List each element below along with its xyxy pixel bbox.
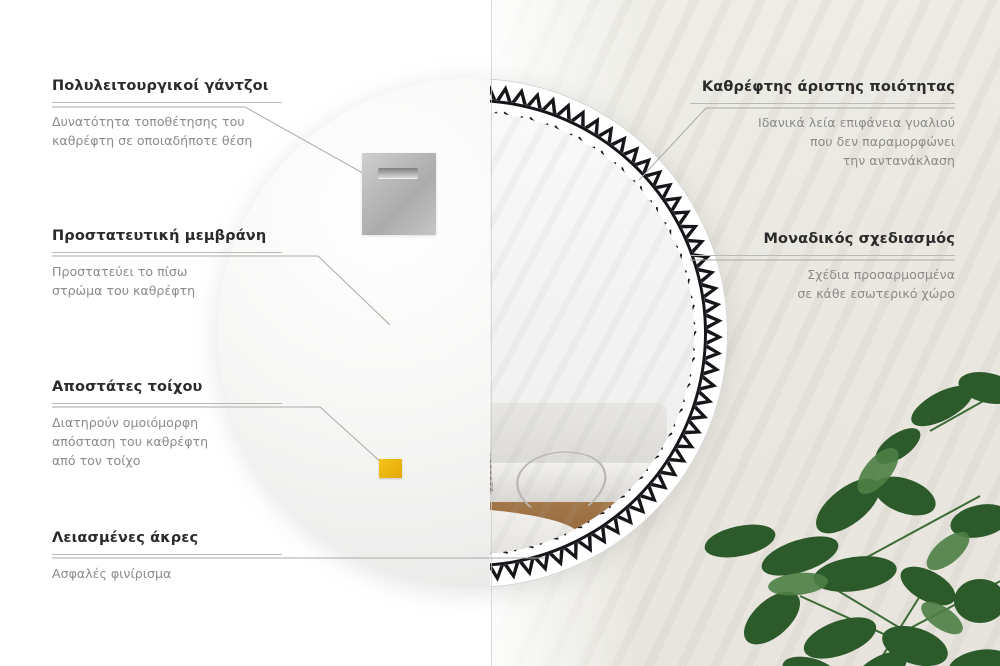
green-foliage-branches (680, 346, 1000, 666)
callout-title: Πολυλειτουργικοί γάντζοι (52, 78, 282, 94)
callout-hooks: Πολυλειτουργικοί γάντζοι Δυνατότητα τοπο… (52, 78, 282, 150)
callout-desc-line: Ασφαλές φινίρισμα (52, 564, 282, 583)
callout-smoothed-edges: Λειασμένες άκρες Ασφαλές φινίρισμα (52, 530, 282, 583)
callout-divider (690, 103, 955, 104)
callout-desc-line: στρώμα του καθρέφτη (52, 281, 282, 300)
callout-desc-line: Δυνατότητα τοποθέτησης του (52, 112, 282, 131)
callout-title: Λειασμένες άκρες (52, 530, 282, 546)
callout-desc-line: που δεν παραμορφώνει (690, 132, 955, 151)
callout-desc-line: Διατηρούν ομοιόμορφη (52, 413, 282, 432)
callout-desc-line: από τον τοίχο (52, 451, 282, 470)
callout-description: Ιδανικά λεία επιφάνεια γυαλιού που δεν π… (690, 113, 955, 170)
callout-desc-line: Προστατεύει το πίσω (52, 262, 282, 281)
callout-divider (52, 252, 282, 253)
mounting-hook-plate (362, 153, 436, 235)
promo-infographic: Πολυλειτουργικοί γάντζοι Δυνατότητα τοπο… (0, 0, 1000, 666)
callout-title: Προστατευτική μεμβράνη (52, 228, 282, 244)
panel-divider (491, 0, 492, 666)
callout-desc-line: Σχέδια προσαρμοσμένα (690, 265, 955, 284)
wall-spacer (379, 459, 402, 478)
callout-desc-line: καθρέφτη σε οποιαδήποτε θέση (52, 131, 282, 150)
callout-unique-design: Μοναδικός σχεδιασμός Σχέδια προσαρμοσμέν… (690, 231, 955, 303)
callout-description: Σχέδια προσαρμοσμένα σε κάθε εσωτερικό χ… (690, 265, 955, 303)
callout-desc-line: απόσταση του καθρέφτη (52, 432, 282, 451)
round-mirror (218, 78, 728, 588)
callout-description: Ασφαλές φινίρισμα (52, 564, 282, 583)
callout-title: Καθρέφτης άριστης ποιότητας (690, 79, 955, 95)
callout-desc-line: σε κάθε εσωτερικό χώρο (690, 284, 955, 303)
callout-protective-membrane: Προστατευτική μεμβράνη Προστατεύει το πί… (52, 228, 282, 300)
callout-desc-line: την αντανάκλαση (690, 151, 955, 170)
hook-slot-icon (378, 168, 418, 178)
callout-divider (690, 255, 955, 256)
callout-desc-line: Ιδανικά λεία επιφάνεια γυαλιού (690, 113, 955, 132)
callout-description: Προστατεύει το πίσω στρώμα του καθρέφτη (52, 262, 282, 300)
callout-divider (52, 554, 282, 555)
callout-divider (52, 403, 282, 404)
callout-title: Αποστάτες τοίχου (52, 379, 282, 395)
callout-title: Μοναδικός σχεδιασμός (690, 231, 955, 247)
callout-description: Διατηρούν ομοιόμορφη απόσταση του καθρέφ… (52, 413, 282, 470)
callout-wall-spacers: Αποστάτες τοίχου Διατηρούν ομοιόμορφη απ… (52, 379, 282, 470)
callout-top-quality-mirror: Καθρέφτης άριστης ποιότητας Ιδανικά λεία… (690, 79, 955, 170)
callout-description: Δυνατότητα τοποθέτησης του καθρέφτη σε ο… (52, 112, 282, 150)
callout-divider (52, 102, 282, 103)
